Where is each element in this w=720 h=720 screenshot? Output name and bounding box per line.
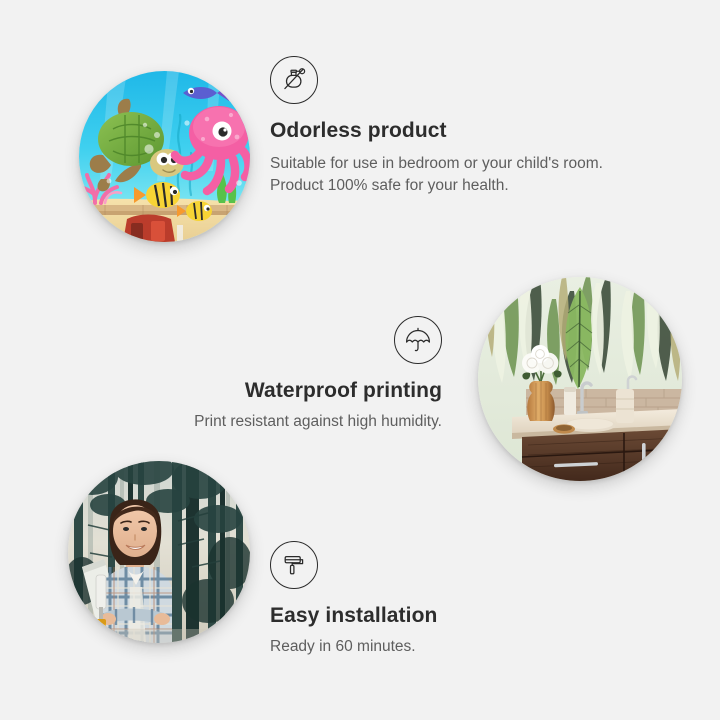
feature-description: Print resistant against high humidity.: [110, 411, 442, 433]
bathroom-tropical-wallpaper-image: [478, 277, 682, 481]
no-odor-perfume-bottle-icon: [270, 56, 318, 104]
feature-title: Waterproof printing: [110, 378, 442, 404]
feature-title: Easy installation: [270, 603, 600, 629]
umbrella-icon: [394, 316, 442, 364]
feature-description: Suitable for use in bedroom or your chil…: [270, 153, 610, 197]
feature-installation: Easy installation Ready in 60 minutes.: [270, 541, 600, 658]
feature-waterproof: Waterproof printing Print resistant agai…: [110, 316, 442, 433]
underwater-cartoon-mural-image: [79, 71, 250, 242]
feature-odorless: Odorless product Suitable for use in bed…: [270, 56, 610, 197]
paint-roller-icon: [270, 541, 318, 589]
woman-paint-roller-forest-image: [68, 461, 250, 643]
feature-description: Ready in 60 minutes.: [270, 636, 600, 658]
promo-feature-page: Odorless product Suitable for use in bed…: [0, 0, 720, 720]
feature-title: Odorless product: [270, 118, 610, 144]
